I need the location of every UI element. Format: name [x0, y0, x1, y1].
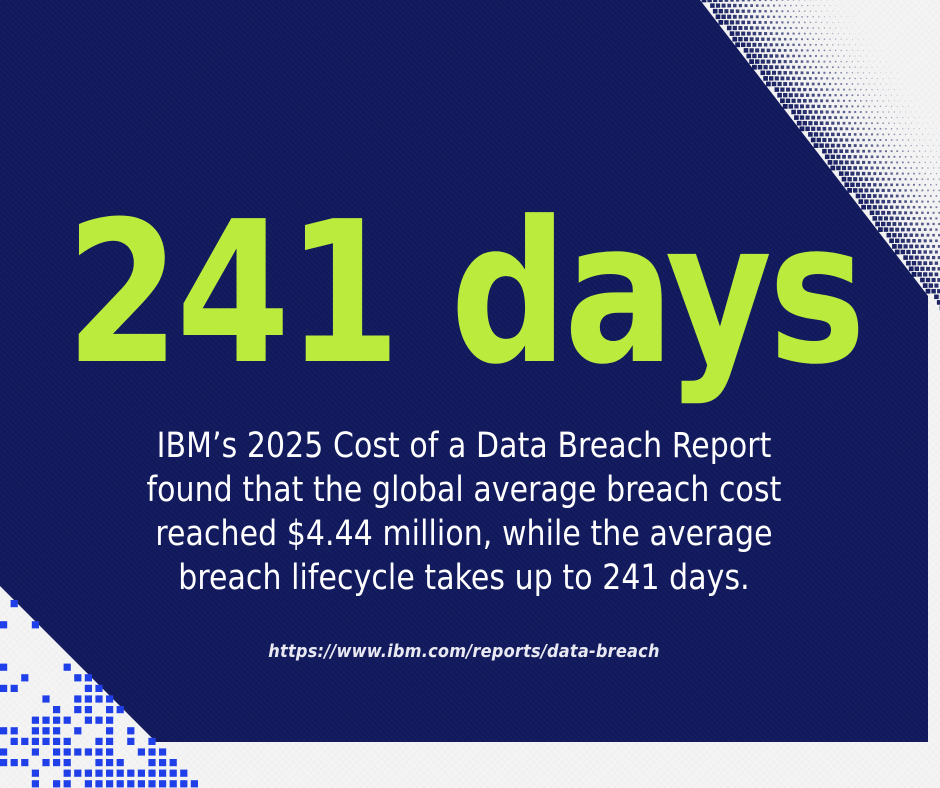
body-paragraph: IBM’s 2025 Cost of a Data Breach Report …	[113, 424, 816, 600]
stat-card-canvas: 241 days IBM’s 2025 Cost of a Data Breac…	[0, 0, 940, 788]
body-line: breach lifecycle takes up to 241 days.	[113, 556, 816, 600]
body-line: IBM’s 2025 Cost of a Data Breach Report	[113, 424, 816, 468]
source-url-citation: https://www.ibm.com/reports/data-breach	[0, 641, 928, 662]
headline-stat: 241 days	[32, 196, 895, 392]
body-line: reached $4.44 million, while the average	[113, 512, 816, 556]
card-content: 241 days IBM’s 2025 Cost of a Data Breac…	[0, 0, 928, 742]
body-line: found that the global average breach cos…	[113, 468, 816, 512]
